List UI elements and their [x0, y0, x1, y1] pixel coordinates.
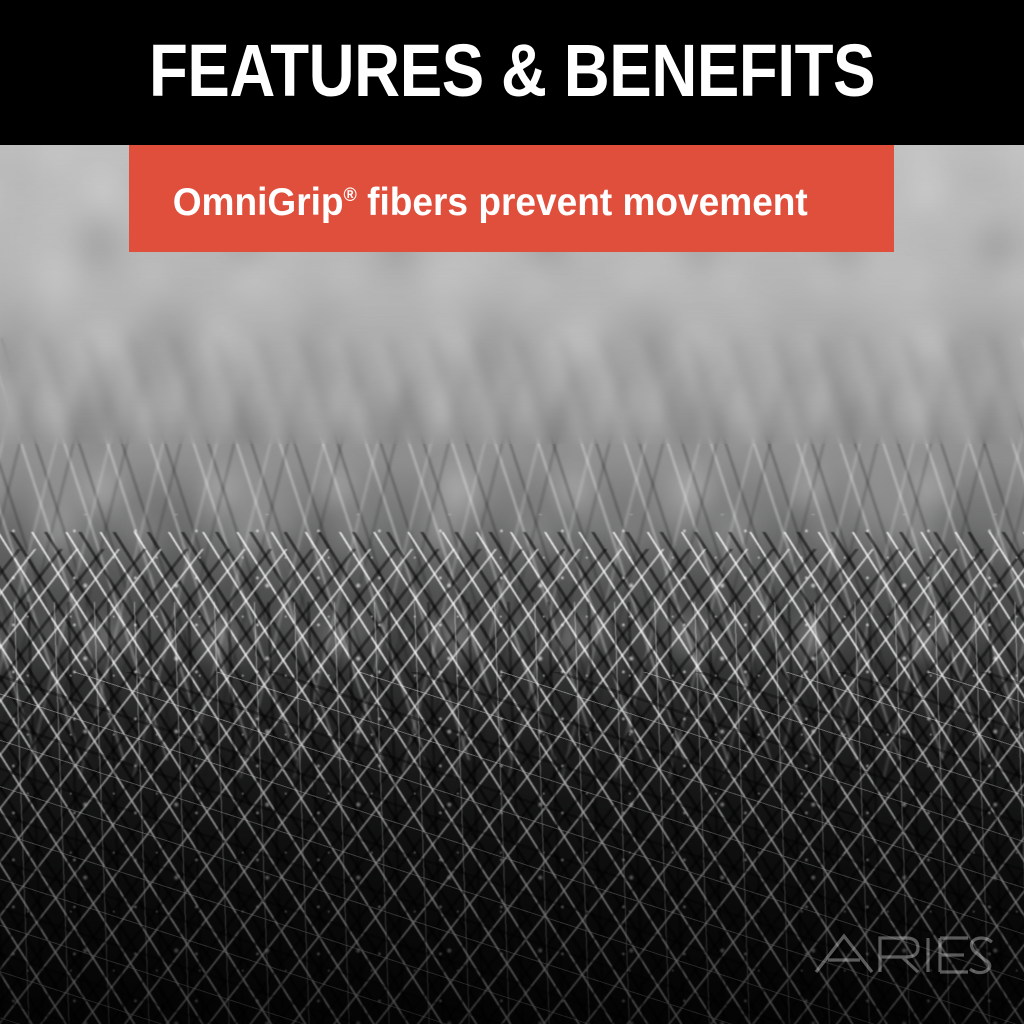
product-photo: [0, 145, 1024, 1024]
callout-description: fibers prevent movement: [357, 181, 808, 224]
callout-brand-name: OmniGrip: [173, 181, 344, 224]
registered-trademark-icon: ®: [344, 185, 357, 206]
product-feature-graphic: FEATURES & BENEFITS OmniGrip® fibers pre…: [0, 0, 1024, 1024]
feature-callout-banner: OmniGrip® fibers prevent movement: [129, 145, 894, 252]
header-bar: FEATURES & BENEFITS: [0, 0, 1024, 145]
photo-bottom-vignette: [0, 655, 1024, 1024]
page-title: FEATURES & BENEFITS: [72, 26, 953, 116]
feature-callout-text: OmniGrip® fibers prevent movement: [129, 145, 808, 252]
